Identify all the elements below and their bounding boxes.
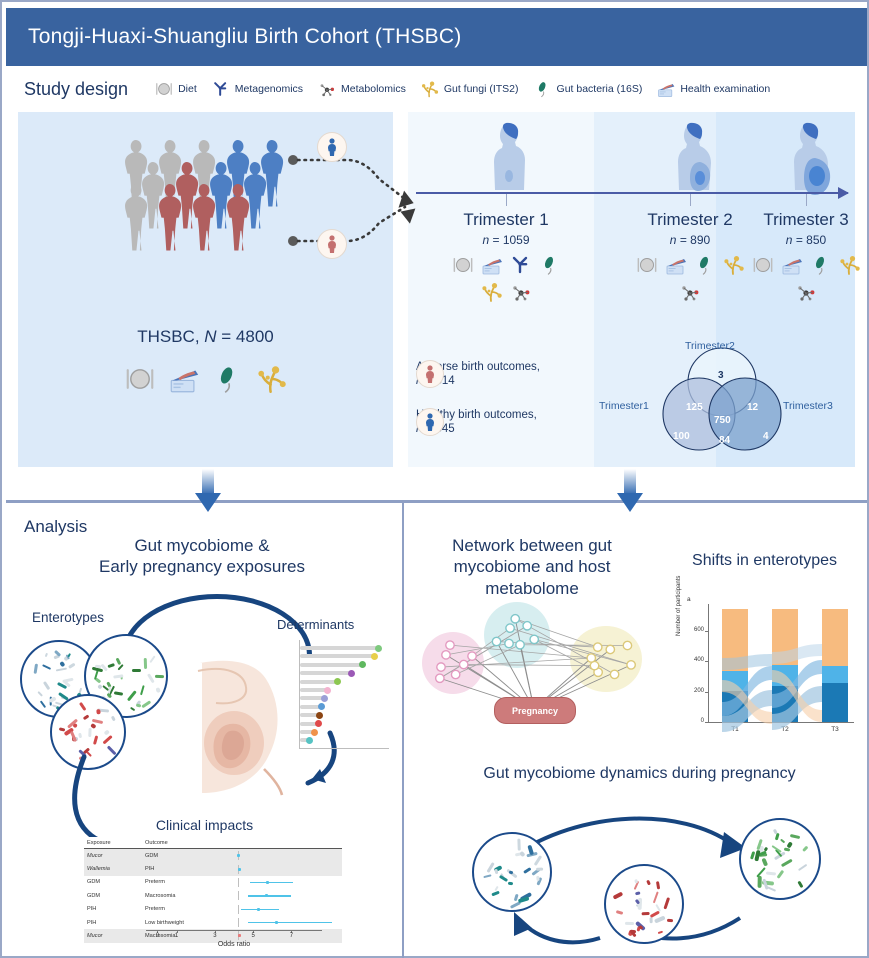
network-node [606, 645, 614, 653]
microbe-glyph [646, 879, 651, 885]
cell-outcome: GDM [142, 849, 214, 863]
pregnant-silhouette-t1 [478, 120, 534, 196]
pregnant-silhouette-t3 [778, 120, 834, 196]
determinant-bar [300, 671, 351, 675]
trimester-icons [634, 253, 746, 304]
col-exposure: Exposure [84, 837, 142, 849]
trimester-3-block: Trimester 3 n = 850 [750, 210, 862, 304]
outcome-healthy: Healthy birth outcomes,n = 545 [416, 408, 537, 437]
legend-item-metagenomics: Metagenomics [211, 79, 303, 99]
alluvial-y-tick: 200 [686, 688, 704, 694]
microbe-glyph [790, 834, 800, 840]
gut-bacteria-icon [211, 362, 245, 396]
trimester-n: n = 1059 [450, 233, 562, 247]
microbe-glyph [106, 745, 116, 756]
microbe-glyph [95, 664, 101, 668]
network-node [523, 622, 531, 630]
alluvial-bar-segment [772, 665, 798, 686]
determinant-bar [300, 680, 337, 684]
determinant-bar [300, 663, 362, 667]
microbe-glyph [67, 653, 71, 658]
healthy-avatar-icon [317, 132, 347, 162]
cell-outcome: Preterm [142, 903, 214, 916]
legend-label: Diet [178, 83, 197, 95]
alluvial-x-axis [708, 722, 854, 723]
network-diagram: Pregnancy [422, 602, 647, 732]
metabolomics-icon [794, 280, 818, 304]
microbe-glyph [533, 855, 542, 866]
microbe-glyph [781, 858, 793, 867]
venn-count-t1-t3: 84 [719, 435, 730, 446]
legend-label: Gut fungi (ITS2) [444, 83, 519, 95]
metabolomics-icon [509, 280, 533, 304]
table-row: PIHLow birthweight [84, 916, 342, 929]
timeline-tick-t2 [690, 194, 691, 206]
legend-item-health-examination: Health examination [656, 79, 770, 99]
venn-count-t2-t3: 12 [747, 402, 758, 413]
alluvial-bar-segment [822, 666, 848, 683]
axis-tick-label: 3 [213, 933, 216, 939]
microbe-glyph [44, 653, 48, 658]
odds-ratio-axis: Odds ratio 01357 [146, 930, 322, 952]
microbe-glyph [141, 700, 151, 708]
alluvial-y-tick: 0 [686, 718, 704, 724]
axis-tick-label: 0 [156, 933, 159, 939]
microbe-glyph [108, 663, 115, 668]
microbe-glyph [42, 681, 50, 690]
trimester-icons [750, 253, 862, 304]
alluvial-x-tick: T3 [822, 726, 848, 733]
microbe-glyph [517, 896, 529, 903]
gut-fungi-icon [255, 362, 289, 396]
table-row: WallemiaPIH [84, 862, 342, 875]
alluvial-bar-segment [722, 671, 748, 691]
determinant-bar [300, 654, 374, 658]
cell-outcome: Preterm [142, 876, 214, 889]
timeline-tick-t1 [506, 194, 507, 206]
cohort-person [159, 184, 181, 250]
microbe-glyph [155, 675, 164, 679]
microbe-glyph [762, 858, 768, 866]
network-node-pregnancy: Pregnancy [494, 697, 576, 724]
table-row: GDMPreterm [84, 876, 342, 889]
dynamics-circle-red [604, 864, 684, 944]
cohort-person [227, 184, 249, 250]
cell-exposure: Wallemia [84, 862, 142, 875]
microbe-glyph [144, 658, 147, 669]
odds-ratio-axis-label: Odds ratio [146, 941, 322, 948]
connector-dot-top [288, 155, 298, 165]
cell-forest [214, 862, 342, 875]
cohort-person [142, 162, 164, 228]
cohort-size-label: THSBC, N = 4800 [18, 327, 393, 347]
alluvial-y-tickmark [705, 692, 708, 693]
determinant-dot [324, 687, 331, 694]
venn-count-t1-only: 100 [673, 431, 690, 442]
trimester-1-block: Trimester 1 n = 1059 [450, 210, 562, 304]
col-outcome: Outcome [142, 837, 214, 849]
microbe-glyph [88, 728, 92, 738]
determinant-dot [334, 678, 341, 685]
network-node [442, 651, 450, 659]
microbe-glyph [797, 881, 803, 889]
gut-bacteria-icon [809, 253, 833, 277]
health-examination-icon [780, 253, 804, 277]
cohort-person [244, 162, 266, 228]
microbe-glyph [111, 716, 116, 722]
cell-exposure: Mucor [84, 929, 142, 942]
timeline-axis [416, 192, 848, 194]
microbe-glyph [508, 881, 514, 885]
cell-forest [214, 889, 342, 902]
gut-bacteria-icon [533, 79, 553, 99]
study-design-label: Study design [24, 79, 128, 100]
microbe-glyph [114, 691, 123, 695]
microbe-glyph [486, 862, 494, 873]
network-node [516, 641, 524, 649]
outcome-adverse: Adverse birth outcomes,n = 514 [416, 360, 540, 389]
venn-label-t1: Trimester1 [599, 400, 649, 412]
microbe-glyph [802, 845, 809, 852]
flow-arrow-right [617, 469, 643, 513]
table-row: GDMMacrosomia [84, 889, 342, 902]
analysis-label: Analysis [24, 517, 87, 537]
microbe-glyph [652, 892, 658, 904]
microbe-glyph [93, 735, 98, 745]
cell-forest [214, 876, 342, 889]
trimester-n: n = 850 [750, 233, 862, 247]
gut-fungi-icon [722, 253, 746, 277]
section-divider-horizontal [6, 500, 867, 503]
alluvial-bar-segment [822, 683, 848, 722]
microbe-glyph [139, 685, 144, 695]
health-examination-icon [480, 253, 504, 277]
cell-outcome: Macrosomia [142, 889, 214, 902]
alluvial-bar-segment [772, 686, 798, 722]
alluvial-y-label: Number of participants [676, 576, 682, 636]
cohort-modality-icons [18, 362, 393, 396]
trimester-name: Trimester 2 [634, 210, 746, 230]
microbe-glyph [156, 687, 161, 692]
microbe-glyph [658, 931, 663, 935]
venn-label-t2: Trimester2 [685, 340, 735, 352]
network-node [460, 660, 468, 668]
trimester-icons [450, 253, 562, 304]
determinant-dot [306, 737, 313, 744]
gut-bacteria-icon [693, 253, 717, 277]
pregnant-silhouette-t2 [662, 120, 718, 196]
axis-tick-label: 5 [251, 933, 254, 939]
cohort-to-timeline-connectors [287, 127, 417, 272]
network-node [623, 641, 631, 649]
shifts-title: Shifts in enterotypes [657, 552, 869, 570]
microbe-glyph [616, 910, 624, 915]
health-examination-icon [656, 79, 676, 99]
microbe-glyph [132, 669, 141, 672]
determinant-dot [359, 661, 366, 668]
microbe-glyph [517, 838, 521, 850]
axis-tick-label: 7 [290, 933, 293, 939]
trimester-name: Trimester 1 [450, 210, 562, 230]
determinants-label: Determinants [277, 617, 354, 632]
alluvial-bar-segment [722, 609, 748, 671]
network-node [468, 652, 476, 660]
microbe-glyph [519, 851, 525, 857]
legend-label: Gut bacteria (16S) [557, 83, 643, 95]
determinants-chart [294, 640, 389, 752]
gut-fungi-icon [838, 253, 862, 277]
figure-title-bar: Tongji-Huaxi-Shuangliu Birth Cohort (THS… [6, 8, 867, 66]
cohort-person [125, 184, 147, 250]
microbe-glyph [667, 919, 673, 923]
microbe-glyph [56, 667, 67, 671]
metabolomics-icon [317, 79, 337, 99]
legend-label: Health examination [680, 83, 770, 95]
cell-exposure: GDM [84, 889, 142, 902]
venn-count-t3-only: 4 [763, 431, 769, 442]
venn-diagram: Trimester2 Trimester1 Trimester3 3 125 1… [597, 344, 847, 464]
microbe-glyph [635, 891, 641, 895]
microbe-glyph [654, 916, 666, 924]
legend-item-metabolomics: Metabolomics [317, 79, 406, 99]
microbe-glyph [758, 876, 762, 888]
alluvial-y-tickmark [705, 722, 708, 723]
section-divider-vertical [402, 503, 404, 958]
diet-icon [154, 79, 174, 99]
microbe-glyph [663, 897, 669, 909]
study-design-legend-row: Study design DietMetagenomicsMetabolomic… [6, 68, 867, 110]
network-node [594, 643, 602, 651]
microbe-glyph [536, 867, 543, 870]
microbe-glyph [650, 917, 653, 924]
determinant-dot [348, 670, 355, 677]
determinant-bar [300, 688, 327, 692]
network-node [446, 641, 454, 649]
metagenomics-icon [509, 253, 533, 277]
determinant-dot [321, 695, 328, 702]
legend-label: Metabolomics [341, 83, 406, 95]
venn-label-t3: Trimester3 [783, 400, 833, 412]
microbe-glyph [102, 735, 112, 745]
metabolomics-icon [678, 280, 702, 304]
cell-outcome: PIH [142, 862, 214, 875]
microbe-glyph [780, 839, 786, 844]
determinant-dot [318, 703, 325, 710]
microbe-glyph [773, 829, 778, 834]
cell-exposure: Mucor [84, 849, 142, 863]
microbe-glyph [149, 655, 156, 663]
microbe-glyph [127, 690, 137, 701]
microbe-glyph [766, 872, 777, 876]
alluvial-y-axis [708, 604, 709, 722]
shifts-alluvial-chart: a Number of participants 0200400600T1T2T… [682, 594, 862, 762]
network-node [587, 654, 595, 662]
figure-canvas: Tongji-Huaxi-Shuangliu Birth Cohort (THS… [0, 0, 869, 958]
microbe-glyph [40, 700, 46, 707]
network-title: Network between gutmycobiome and hostmet… [417, 535, 647, 599]
determinant-dot [375, 645, 382, 652]
page-title: Tongji-Huaxi-Shuangliu Birth Cohort (THS… [6, 25, 461, 49]
microbe-glyph [97, 709, 101, 715]
microbe-glyph [34, 663, 38, 673]
alluvial-y-tick: 600 [686, 627, 704, 633]
legend-item-gut-bacteria: Gut bacteria (16S) [533, 79, 643, 99]
microbe-glyph [82, 714, 89, 720]
alluvial-y-tick: 400 [686, 657, 704, 663]
microbe-glyph [42, 664, 51, 670]
network-node [451, 670, 459, 678]
panel-letter: a [687, 596, 691, 603]
legend-label: Metagenomics [235, 83, 303, 95]
metagenomics-icon [211, 79, 231, 99]
network-node [505, 639, 513, 647]
microbe-glyph [67, 662, 75, 669]
network-node [492, 637, 500, 645]
dynamics-title: Gut mycobiome dynamics during pregnancy [412, 765, 867, 783]
enterotypes-label: Enterotypes [32, 610, 104, 625]
timeline-tick-t3 [806, 194, 807, 206]
microbe-glyph [777, 870, 785, 879]
cohort-person [261, 140, 283, 206]
cell-exposure: PIH [84, 903, 142, 916]
determinant-dot [371, 653, 378, 660]
microbe-glyph [78, 702, 86, 712]
gut-fungi-icon [480, 280, 504, 304]
microbe-glyph [612, 892, 623, 900]
microbe-glyph [60, 661, 66, 667]
network-edge [534, 639, 631, 664]
alluvial-y-tickmark [705, 661, 708, 662]
cell-forest [214, 916, 342, 929]
gut-fungi-icon [420, 79, 440, 99]
adverse-avatar-icon [317, 229, 347, 259]
gut-bacteria-icon [538, 253, 562, 277]
cell-exposure: PIH [84, 916, 142, 929]
venn-count-t2-only: 3 [718, 370, 724, 381]
trimester-n: n = 890 [634, 233, 746, 247]
network-node [437, 663, 445, 671]
mycobiome-exposures-title: Gut mycobiome &Early pregnancy exposures [22, 535, 382, 578]
microbe-glyph [656, 882, 660, 891]
table-row: MucorGDM [84, 849, 342, 863]
microbe-glyph [625, 922, 635, 925]
alluvial-bar-segment [822, 609, 848, 666]
cohort-person [193, 184, 215, 250]
trimester-2-block: Trimester 2 n = 890 [634, 210, 746, 304]
network-node [511, 615, 519, 623]
alluvial-x-tick: T2 [772, 726, 798, 733]
venn-count-t1-t2: 125 [686, 402, 703, 413]
venn-count-all-three: 750 [714, 415, 731, 426]
microbe-glyph [483, 874, 492, 878]
cell-outcome: Low birthweight [142, 916, 214, 929]
diet-icon [635, 253, 659, 277]
diet-icon [123, 362, 157, 396]
pregnant-belly-illustration [182, 657, 297, 797]
microbe-glyph [79, 732, 82, 737]
determinant-dot [316, 712, 323, 719]
legend-item-diet: Diet [154, 79, 197, 99]
network-node [627, 661, 635, 669]
microbe-glyph [130, 707, 136, 712]
cohort-person [210, 162, 232, 228]
microbe-glyph [148, 673, 156, 683]
cohort-person [176, 162, 198, 228]
determinant-bar [300, 646, 378, 650]
microbe-glyph [58, 727, 65, 732]
microbe-glyph [798, 863, 807, 870]
microbe-glyph [91, 723, 97, 729]
microbe-glyph [775, 833, 780, 840]
trimester-name: Trimester 3 [750, 210, 862, 230]
legend: DietMetagenomicsMetabolomicsGut fungi (I… [154, 79, 770, 99]
determinant-dot [311, 729, 318, 736]
clinical-impacts-title: Clinical impacts [87, 817, 322, 833]
cell-forest [214, 903, 342, 916]
microbe-glyph [642, 912, 650, 916]
health-examination-icon [167, 362, 201, 396]
network-node [530, 635, 538, 643]
table-row: PIHPreterm [84, 903, 342, 916]
diet-icon [451, 253, 475, 277]
axis-tick-label: 1 [175, 933, 178, 939]
cell-forest [214, 849, 342, 863]
col-forest [214, 837, 342, 849]
microbe-glyph [499, 875, 508, 882]
dynamics-circle-green [739, 818, 821, 900]
network-node [610, 670, 618, 678]
dynamics-circle-teal [472, 832, 552, 912]
determinant-dot [315, 720, 322, 727]
alluvial-y-tickmark [705, 631, 708, 632]
network-node [436, 674, 444, 682]
legend-item-gut-fungi: Gut fungi (ITS2) [420, 79, 519, 99]
cell-exposure: GDM [84, 876, 142, 889]
microbe-glyph [136, 703, 141, 707]
alluvial-x-tick: T1 [722, 726, 748, 733]
health-examination-icon [664, 253, 688, 277]
network-edge [440, 626, 527, 678]
diet-icon [751, 253, 775, 277]
alluvial-bar-segment [772, 609, 798, 666]
microbe-glyph [492, 890, 500, 896]
flow-arrow-left [195, 469, 221, 513]
connector-dot-bottom [288, 236, 298, 246]
alluvial-bar-segment [722, 691, 748, 722]
network-node [506, 624, 514, 632]
microbe-glyph [37, 691, 43, 697]
